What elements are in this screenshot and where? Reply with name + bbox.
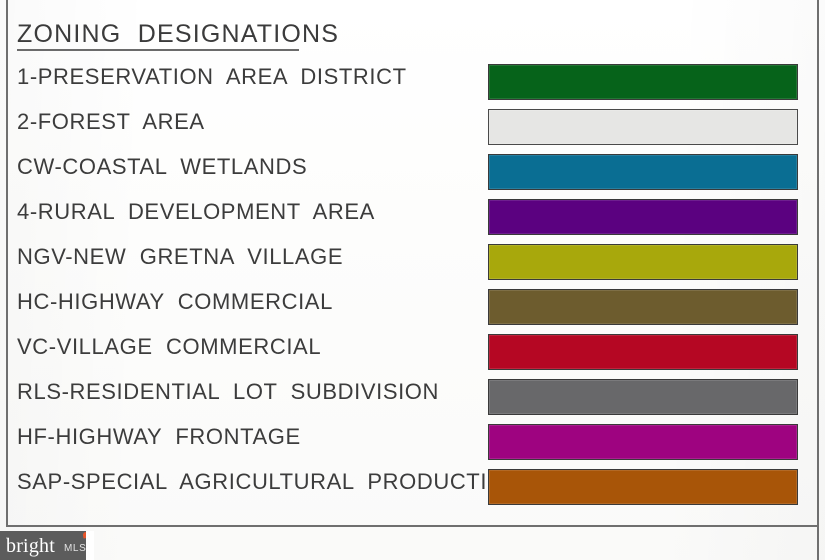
legend-row: HC-HIGHWAY COMMERCIAL (0, 287, 825, 332)
legend-row: CW-COASTAL WETLANDS (0, 152, 825, 197)
legend-color-swatch (488, 199, 798, 235)
zoning-legend-image: ZONING DESIGNATIONS 1-PRESERVATION AREA … (0, 0, 825, 560)
legend-row: VC-VILLAGE COMMERCIAL (0, 332, 825, 377)
legend-row-label: 2-FOREST AREA (17, 107, 205, 137)
legend-row: SAP-SPECIAL AGRICULTURAL PRODUCTION (0, 467, 825, 512)
legend-color-swatch (488, 469, 798, 505)
legend-row: 1-PRESERVATION AREA DISTRICT (0, 62, 825, 107)
legend-color-swatch (488, 244, 798, 280)
legend-color-swatch (488, 424, 798, 460)
legend-row-label: NGV-NEW GRETNA VILLAGE (17, 242, 343, 272)
legend-color-swatch (488, 154, 798, 190)
legend-color-swatch (488, 289, 798, 325)
legend-color-swatch (488, 64, 798, 100)
legend-row-label: SAP-SPECIAL AGRICULTURAL PRODUCTION (17, 467, 521, 497)
legend-color-swatch (488, 379, 798, 415)
legend-row: RLS-RESIDENTIAL LOT SUBDIVISION (0, 377, 825, 422)
legend-row: 4-RURAL DEVELOPMENT AREA (0, 197, 825, 242)
legend-color-swatch (488, 109, 798, 145)
legend-row-label: RLS-RESIDENTIAL LOT SUBDIVISION (17, 377, 439, 407)
legend-row-list: 1-PRESERVATION AREA DISTRICT2-FOREST ARE… (0, 0, 825, 527)
legend-row-label: HC-HIGHWAY COMMERCIAL (17, 287, 333, 317)
legend-row-label: 4-RURAL DEVELOPMENT AREA (17, 197, 375, 227)
watermark-trailing-gap (86, 531, 94, 560)
legend-row: HF-HIGHWAY FRONTAGE (0, 422, 825, 467)
legend-color-swatch (488, 334, 798, 370)
watermark-brand-text: bright (6, 536, 55, 556)
legend-row: 2-FOREST AREA (0, 107, 825, 152)
legend-row-label: HF-HIGHWAY FRONTAGE (17, 422, 301, 452)
legend-row: NGV-NEW GRETNA VILLAGE (0, 242, 825, 287)
legend-row-label: CW-COASTAL WETLANDS (17, 152, 307, 182)
legend-row-label: VC-VILLAGE COMMERCIAL (17, 332, 321, 362)
bright-mls-watermark: bright MLS (0, 531, 86, 560)
legend-row-label: 1-PRESERVATION AREA DISTRICT (17, 62, 407, 92)
watermark-suffix-text: MLS (64, 543, 86, 554)
